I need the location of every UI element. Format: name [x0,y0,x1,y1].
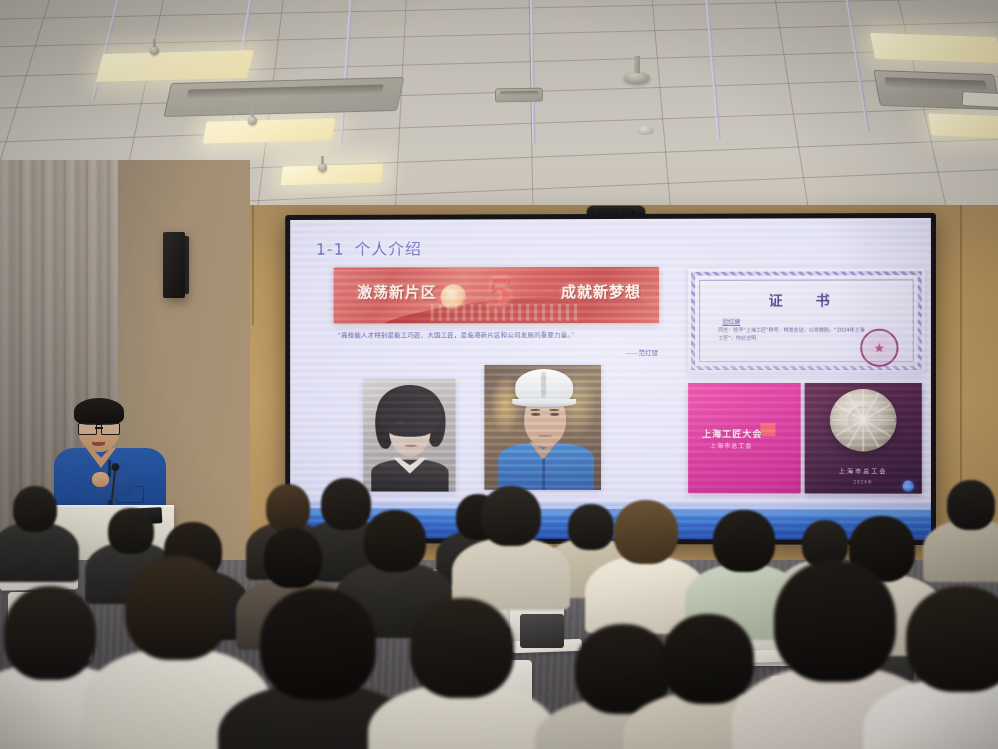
event-banner: 激荡新片区 5 成就新梦想 [334,267,659,323]
hvac-vent [163,77,404,117]
plaque-pink-title: 上海工匠大会 [702,427,762,440]
ceiling-sign [962,91,998,108]
sprinkler-head [150,46,159,55]
ceiling-speaker [624,72,650,83]
plaque-pink-subtitle: 上海市总工会 [710,441,752,450]
audience-member [248,588,388,749]
audience-member [934,480,998,566]
slide-quote: “高技能人才特别是能工巧匠、大国工匠，是临港新片区和公司发展的重要力量。” [338,331,658,341]
banner-left-text: 激荡新片区 [357,281,436,302]
ceiling-panel-light [96,50,254,82]
award-plaque-pink: 上海工匠大会 上海市总工会 [688,383,801,493]
certificate-seal-icon: ★ [860,329,898,367]
ceiling-panel-light [281,164,384,186]
audience-member [892,586,998,749]
audience-member [466,486,556,592]
portrait-photo-bw [363,379,455,492]
ceiling-panel-light [870,33,998,63]
award-plaque-medal: 上海市总工会 2024年 [805,383,922,494]
presentation-slide: 1-1个人介绍 激荡新片区 5 成就新梦想 “高技能人才特别是能工巧匠、大国工匠… [290,218,931,540]
medal-icon [830,389,897,451]
sprinkler-head [248,116,257,125]
plaque-medal-text: 上海市总工会 [805,466,922,475]
smoke-detector [637,126,654,135]
sprinkler-head [318,163,327,172]
slide-section-number: 1-1 [316,240,345,259]
audience-member [396,598,528,749]
banner-right-text: 成就新梦想 [561,281,641,302]
audience-member [0,486,70,566]
wall-mounted-speaker [163,232,185,298]
award-certificate: 证 书 范红健 同志：授予“上海工匠”称号，特发此证，以资鼓励。“2024年上海… [688,268,925,373]
slide-title: 1-1个人介绍 [316,236,422,260]
certificate-name: 范红健 [722,317,740,326]
slide-surface: 1-1个人介绍 激荡新片区 5 成就新梦想 “高技能人才特别是能工巧匠、大国工匠… [290,218,931,540]
hvac-vent [495,88,543,103]
slide-section-title: 个人介绍 [355,240,422,259]
glasses-icon [78,423,120,433]
slide-progress-dot [903,481,914,492]
audience-member [600,500,692,612]
slide-quote-author: ——范红健 [338,347,658,357]
certificate-title: 证 书 [688,290,925,310]
lecture-hall-scene: 1-1个人介绍 激荡新片区 5 成就新梦想 “高技能人才特别是能工巧匠、大国工匠… [0,0,998,749]
wall-seam [252,205,254,325]
certificate-body: 同志：授予“上海工匠”称号，特发此证，以资鼓励。“2024年上海工匠”，特此证明… [718,327,869,343]
portrait-photo-worker [484,365,601,490]
ceiling-panel-light [203,118,336,143]
ceiling-panel-light [928,113,998,138]
